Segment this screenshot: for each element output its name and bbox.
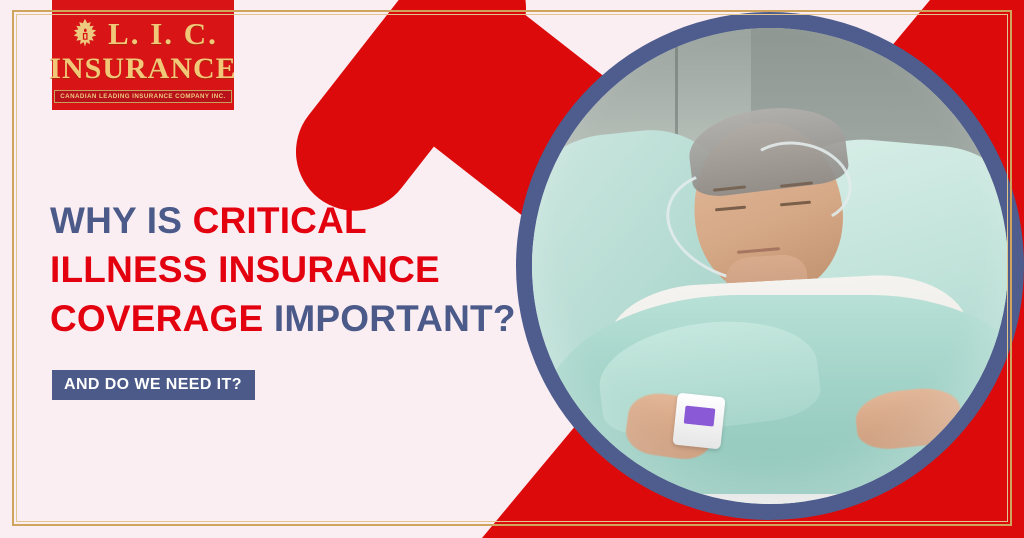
headline-line-2-red: ILLNESS INSURANCE [50,249,440,290]
headline-line-1-navy: WHY IS [50,200,193,241]
headline-line-3-navy: IMPORTANT? [263,298,515,339]
logo-tagline: CANADIAN LEADING INSURANCE COMPANY INC. [54,90,231,103]
pulse-oximeter-device [672,392,725,449]
hospital-scene [532,28,1008,504]
headline-line-3-red: COVERAGE [50,298,263,339]
headline-line-1: WHY IS CRITICAL [50,196,520,245]
patient-photo [532,28,1008,504]
insurance-banner: L. I. C. INSURANCE CANADIAN LEADING INSU… [0,0,1024,538]
photo-ring [516,12,1024,520]
logo-title: L. I. C. [108,18,218,49]
headline-line-1-red: CRITICAL [193,200,367,241]
headline-line-2: ILLNESS INSURANCE [50,245,520,294]
maple-leaf-icon [68,17,102,51]
logo-subtitle: INSURANCE [49,54,236,84]
page-title: WHY IS CRITICAL ILLNESS INSURANCE COVERA… [50,196,520,344]
headline-line-3: COVERAGE IMPORTANT? [50,294,520,343]
subtitle-badge: AND DO WE NEED IT? [52,370,255,400]
pulse-oximeter-screen [683,405,715,427]
logo-primary-row: L. I. C. [68,12,218,56]
lic-insurance-logo[interactable]: L. I. C. INSURANCE CANADIAN LEADING INSU… [52,0,234,110]
